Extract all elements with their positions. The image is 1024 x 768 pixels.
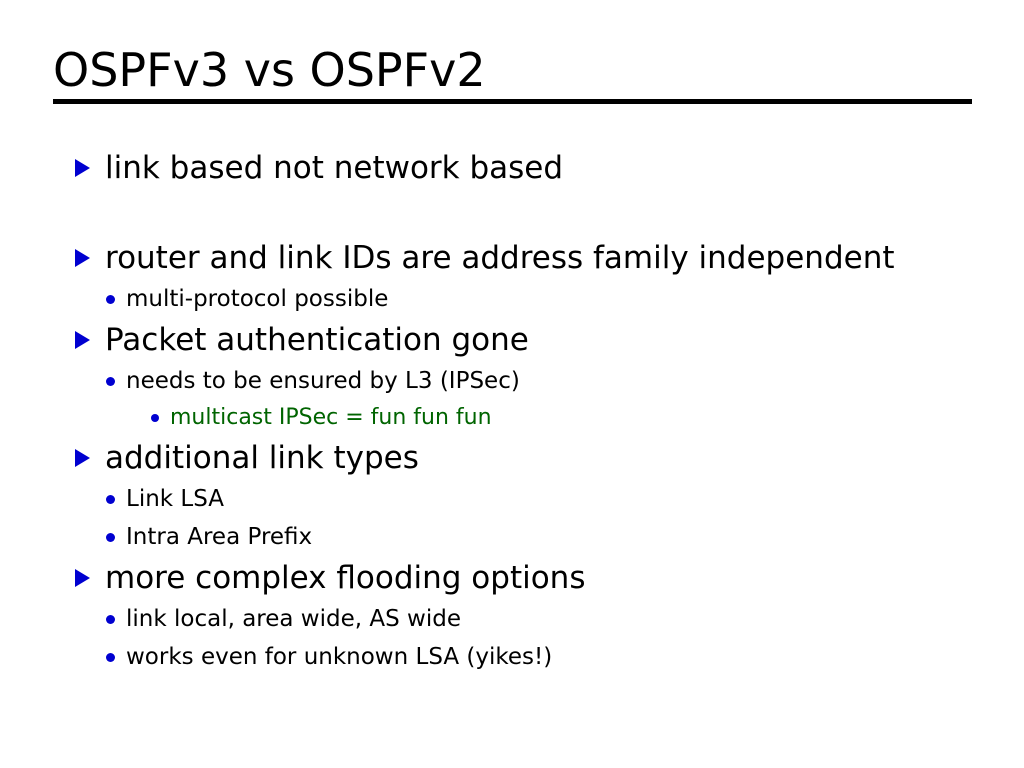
bullet-item-level-2: Link LSA	[0, 480, 1024, 518]
triangle-right-bullet-icon	[75, 449, 90, 467]
page-title: OSPFv3 vs OSPFv2	[53, 44, 973, 96]
bullet-text: router and link IDs are address family i…	[105, 236, 895, 280]
bullet-item-level-1: router and link IDs are address family i…	[0, 236, 1024, 280]
dot-bullet-icon	[106, 295, 115, 304]
bullet-text: Link LSA	[126, 480, 224, 518]
bullet-text: Intra Area Prefix	[126, 518, 312, 556]
bullet-item-level-2: multi-protocol possible	[0, 280, 1024, 318]
bullet-item-level-2: works even for unknown LSA (yikes!)	[0, 638, 1024, 676]
bullet-item-level-2: link local, area wide, AS wide	[0, 600, 1024, 638]
slide-title-block: OSPFv3 vs OSPFv2	[53, 44, 973, 96]
dot-bullet-icon	[106, 533, 115, 542]
bullet-spacer	[0, 190, 1024, 236]
bullet-text: more complex flooding options	[105, 556, 586, 600]
dot-bullet-icon	[106, 377, 115, 386]
bullet-item-level-2: Intra Area Prefix	[0, 518, 1024, 556]
triangle-right-bullet-icon	[75, 331, 90, 349]
bullet-text: works even for unknown LSA (yikes!)	[126, 638, 552, 676]
dot-bullet-icon	[106, 653, 115, 662]
title-divider-rule	[53, 99, 972, 104]
bullet-text: additional link types	[105, 436, 419, 480]
bullet-text: Packet authentication gone	[105, 318, 529, 362]
bullet-item-level-1: link based not network based	[0, 146, 1024, 190]
bullet-text: link local, area wide, AS wide	[126, 600, 461, 638]
bullet-item-level-3: multicast IPSec = fun fun fun	[0, 400, 1024, 436]
bullet-item-level-2: needs to be ensured by L3 (IPSec)	[0, 362, 1024, 400]
bullet-item-level-1: more complex flooding options	[0, 556, 1024, 600]
bullet-item-level-1: additional link types	[0, 436, 1024, 480]
bullet-text: link based not network based	[105, 146, 563, 190]
bullet-text: needs to be ensured by L3 (IPSec)	[126, 362, 520, 400]
triangle-right-bullet-icon	[75, 159, 90, 177]
dot-bullet-icon	[106, 615, 115, 624]
triangle-right-bullet-icon	[75, 569, 90, 587]
bullet-text: multicast IPSec = fun fun fun	[170, 400, 492, 436]
slide-bullet-list: link based not network basedrouter and l…	[0, 146, 1024, 676]
slide-canvas: OSPFv3 vs OSPFv2 link based not network …	[0, 0, 1024, 768]
triangle-right-bullet-icon	[75, 249, 90, 267]
dot-bullet-icon	[151, 414, 159, 422]
bullet-text: multi-protocol possible	[126, 280, 388, 318]
bullet-item-level-1: Packet authentication gone	[0, 318, 1024, 362]
dot-bullet-icon	[106, 495, 115, 504]
